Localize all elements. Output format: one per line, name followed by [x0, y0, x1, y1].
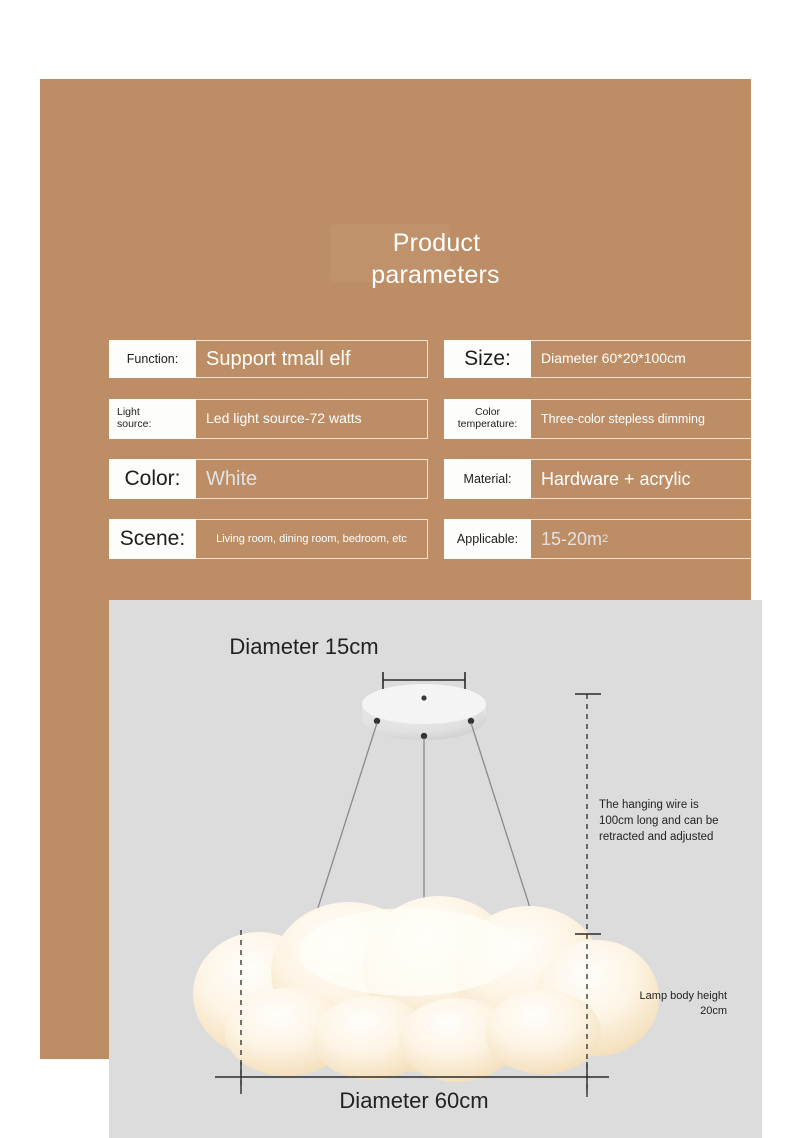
param-label-applicable: Applicable: — [444, 519, 531, 559]
hanging-wire-note-line-2: 100cm long and can be — [599, 813, 749, 829]
param-value-color-temperature: Three-color stepless dimming — [531, 399, 763, 439]
param-label-light-source-line-2: source: — [117, 419, 151, 431]
lamp-body-height-note: Lamp body height 20cm — [607, 989, 727, 1019]
param-row-applicable: Applicable: 15-20m2 — [444, 519, 763, 559]
param-value-color: White — [196, 459, 428, 499]
param-value-applicable-superscript: 2 — [602, 533, 608, 545]
param-label-function: Function: — [109, 340, 196, 378]
bottom-dimension-label: Diameter 60cm — [219, 1088, 609, 1114]
param-row-function: Function: Support tmall elf — [109, 340, 428, 378]
param-value-scene: Living room, dining room, bedroom, etc — [196, 519, 428, 559]
param-label-light-source: Light source: — [109, 399, 196, 439]
param-value-function: Support tmall elf — [196, 340, 428, 378]
page-title-line-1: Product — [80, 227, 790, 259]
param-row-material: Material: Hardware + acrylic — [444, 459, 763, 499]
product-parameters-panel: Product parameters Function: Support tma… — [40, 79, 751, 1059]
param-row-size: Size: Diameter 60*20*100cm — [444, 340, 763, 378]
param-label-color-temperature-line-2: temperature: — [458, 419, 518, 431]
param-row-color-temperature: Color temperature: Three-color stepless … — [444, 399, 763, 439]
product-dimension-diagram: Diameter 15cm Diameter 60cm The hanging … — [109, 600, 762, 1138]
hanging-wire-note-line-1: The hanging wire is — [599, 797, 749, 813]
param-value-applicable: 15-20m2 — [531, 519, 763, 559]
param-value-light-source: Led light source-72 watts — [196, 399, 428, 439]
param-value-material: Hardware + acrylic — [531, 459, 763, 499]
param-row-scene: Scene: Living room, dining room, bedroom… — [109, 519, 428, 559]
page-title: Product parameters — [80, 227, 790, 291]
param-label-color-temperature: Color temperature: — [444, 399, 531, 439]
lamp-body-height-line-2: 20cm — [607, 1004, 727, 1019]
param-label-size: Size: — [444, 340, 531, 378]
hanging-wire-note: The hanging wire is 100cm long and can b… — [599, 797, 749, 845]
ceiling-canopy — [362, 684, 486, 740]
param-value-applicable-text: 15-20m — [541, 529, 602, 549]
diagram-illustration — [109, 600, 762, 1138]
param-row-light-source: Light source: Led light source-72 watts — [109, 399, 428, 439]
page-title-line-2: parameters — [80, 259, 790, 291]
top-dimension-label: Diameter 15cm — [109, 634, 499, 660]
lamp-body-height-line-1: Lamp body height — [607, 989, 727, 1004]
param-label-material: Material: — [444, 459, 531, 499]
hanging-wire-note-line-3: retracted and adjusted — [599, 829, 749, 845]
wire-length-dimension — [575, 694, 601, 934]
param-label-color: Color: — [109, 459, 196, 499]
param-value-size: Diameter 60*20*100cm — [531, 340, 763, 378]
cloud-lamp-body — [193, 896, 659, 1082]
param-label-scene: Scene: — [109, 519, 196, 559]
param-row-color: Color: White — [109, 459, 428, 499]
